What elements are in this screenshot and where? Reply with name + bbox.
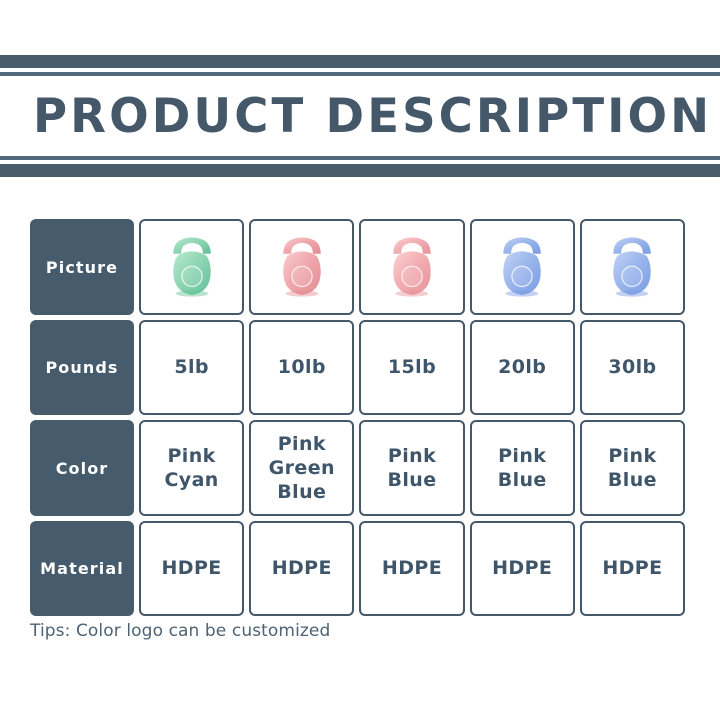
table-cell-material-1: HDPE [139,521,244,616]
table-cell-pounds-4: 20lb [470,320,575,415]
table-row-material: Material HDPE HDPE HDPE HDPE HDPE [30,521,685,616]
table-cell-color-3: PinkBlue [359,420,464,516]
table-cell-picture-3 [359,219,464,315]
banner-bottom-thick-rule [0,164,720,177]
table-cell-color-5: PinkBlue [580,420,685,516]
header-banner: PRODUCT DESCRIPTION [0,55,720,177]
kettlebell-icon [263,228,341,306]
table-cell-picture-5 [580,219,685,315]
tips-note: Tips: Color logo can be customized [30,621,330,641]
table-cell-picture-2 [249,219,354,315]
row-header-color-label: Color [56,459,109,478]
table-row-pounds: Pounds 5lb 10lb 15lb 20lb 30lb [30,320,685,415]
product-spec-table: Picture [30,219,685,616]
table-cell-pounds-3: 15lb [359,320,464,415]
kettlebell-icon [373,228,451,306]
row-header-color: Color [30,420,134,516]
table-row-color: Color PinkCyan PinkGreenBlue PinkBlue Pi… [30,420,685,516]
row-header-pounds: Pounds [30,320,134,415]
table-cell-color-2: PinkGreenBlue [249,420,354,516]
table-cell-material-3: HDPE [359,521,464,616]
table-cell-material-5: HDPE [580,521,685,616]
table-row-picture: Picture [30,219,685,315]
table-cell-material-2: HDPE [249,521,354,616]
product-description-page: PRODUCT DESCRIPTION Picture [0,0,720,720]
table-cell-color-1: PinkCyan [139,420,244,516]
table-cell-color-4: PinkBlue [470,420,575,516]
table-cell-pounds-5: 30lb [580,320,685,415]
table-cell-pounds-2: 10lb [249,320,354,415]
table-cell-picture-1 [139,219,244,315]
row-header-picture: Picture [30,219,134,315]
page-title: PRODUCT DESCRIPTION [33,93,712,140]
table-cell-material-4: HDPE [470,521,575,616]
kettlebell-icon [153,228,231,306]
table-cell-pounds-1: 5lb [139,320,244,415]
banner-top-thick-rule [0,55,720,68]
kettlebell-icon [593,228,671,306]
table-cell-picture-4 [470,219,575,315]
row-header-material-label: Material [40,559,124,578]
row-header-pounds-label: Pounds [45,358,118,377]
page-title-container: PRODUCT DESCRIPTION [0,76,720,156]
kettlebell-icon [483,228,561,306]
row-header-picture-label: Picture [46,258,118,277]
row-header-material: Material [30,521,134,616]
